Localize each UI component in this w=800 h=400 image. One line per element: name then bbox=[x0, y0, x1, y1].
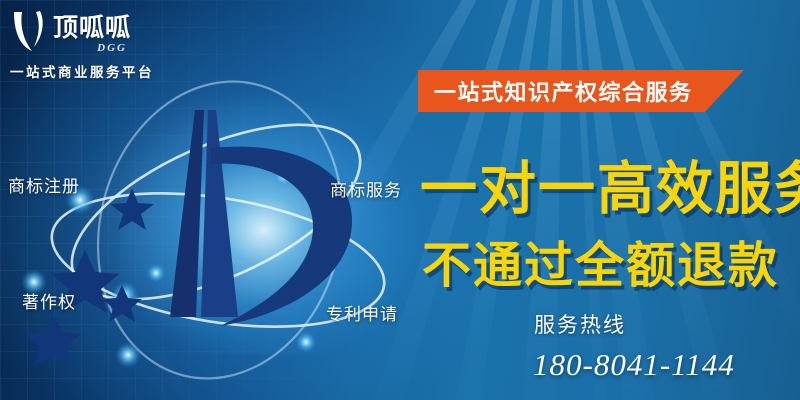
brand-tagline: 一站式商业服务平台 bbox=[10, 61, 190, 81]
hotline-number[interactable]: 180-8041-1144 bbox=[533, 347, 735, 383]
keyword-label-trademark-registration: 商标注册 bbox=[8, 172, 80, 197]
promo-banner: 顶呱呱 DGG 一站式商业服务平台 商标注册 商标服务 著作权 专利申请 一站式… bbox=[0, 0, 800, 400]
ribbon-banner: 一站式知识产权综合服务 bbox=[418, 70, 744, 112]
brand-logo[interactable]: 顶呱呱 DGG 一站式商业服务平台 bbox=[10, 8, 190, 92]
stylized-flame-logo-icon bbox=[10, 8, 50, 54]
hotline-label: 服务热线 bbox=[534, 309, 626, 339]
brand-name-cn: 顶呱呱 bbox=[53, 15, 131, 40]
keyword-label-copyright: 著作权 bbox=[22, 288, 76, 313]
keyword-label-trademark-service: 商标服务 bbox=[330, 176, 402, 201]
headline-secondary: 不通过全额退款 bbox=[422, 226, 779, 297]
central-emblem-graphic bbox=[20, 70, 410, 380]
headline-primary: 一对一高效服务 bbox=[420, 143, 800, 225]
brand-abbr: DGG bbox=[53, 42, 131, 54]
ribbon-text: 一站式知识产权综合服务 bbox=[418, 75, 693, 107]
tower-spire-icon bbox=[170, 110, 238, 317]
keyword-label-patent-application: 专利申请 bbox=[326, 300, 398, 325]
